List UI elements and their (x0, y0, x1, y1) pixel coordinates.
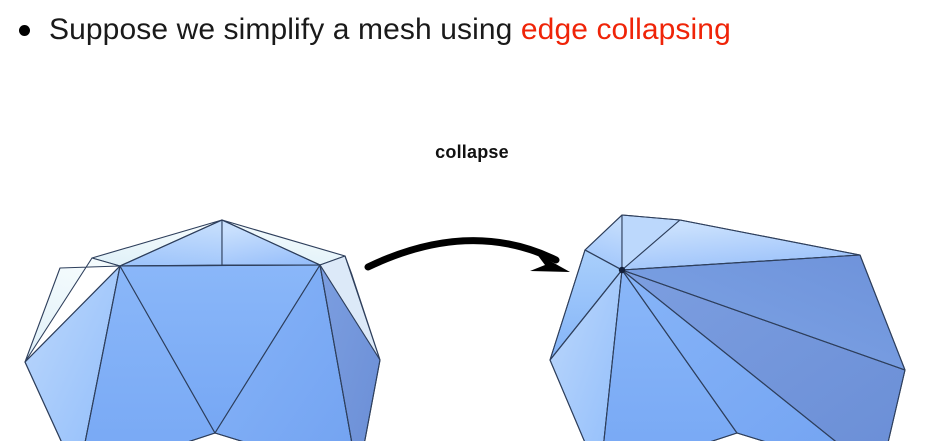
collapse-arrow (368, 241, 570, 272)
bullet-marker-icon (19, 25, 30, 36)
original-mesh (25, 220, 380, 441)
collapse-arrow-label: collapse (420, 142, 524, 163)
bullet-text: Suppose we simplify a mesh using edge co… (49, 13, 731, 47)
collapsed-vertex-marker (619, 267, 625, 273)
bullet-text-highlight: edge collapsing (521, 13, 731, 46)
collapse-arrow-shaft (368, 241, 556, 267)
bullet-text-plain: Suppose we simplify a mesh using (49, 13, 512, 46)
bullet-line: Suppose we simplify a mesh using edge co… (0, 0, 929, 60)
simplified-mesh (550, 215, 905, 441)
mesh-simplification-figure: collapse (0, 60, 929, 441)
figure-svg (0, 60, 929, 441)
